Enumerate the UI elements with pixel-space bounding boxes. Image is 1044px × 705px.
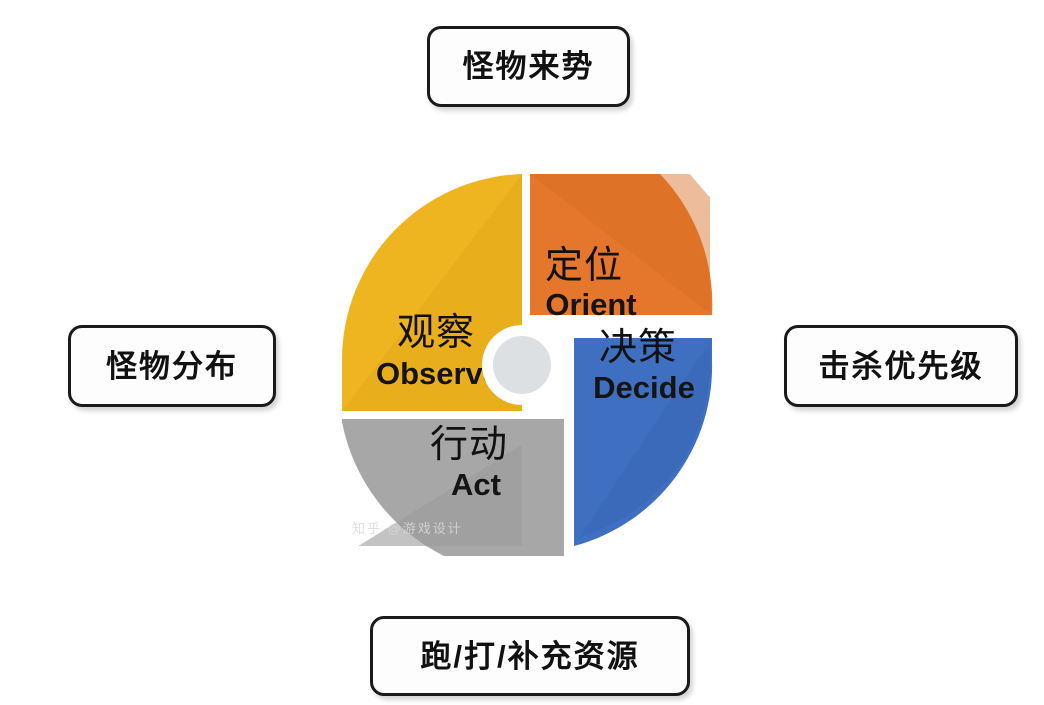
sector-observe-label-cn: 观察 (397, 312, 475, 354)
callout-right[interactable]: 击杀优先级 (784, 325, 1018, 407)
sector-orient[interactable]: 定位 Orient (530, 100, 712, 322)
sector-decide-label-en: Decide (593, 370, 695, 405)
sector-decide[interactable]: 决策 Decide (574, 327, 712, 546)
ooda-wheel-svg: 观察 Observe 定位 Orient (326, 160, 726, 560)
sector-act-label-en: Act (451, 467, 501, 502)
callout-bottom-label: 跑/打/补充资源 (420, 641, 639, 672)
center-hub (493, 336, 551, 394)
callout-bottom[interactable]: 跑/打/补充资源 (370, 616, 690, 696)
sector-decide-label-cn: 决策 (599, 327, 677, 369)
sector-orient-label-cn: 定位 (545, 245, 623, 287)
ooda-wheel: 观察 Observe 定位 Orient (326, 160, 726, 560)
callout-top-label: 怪物来势 (463, 51, 595, 82)
callout-right-label: 击杀优先级 (819, 351, 984, 382)
callout-top[interactable]: 怪物来势 (427, 26, 630, 107)
ooda-diagram: 怪物来势 怪物分布 击杀优先级 跑/打/补充资源 (0, 0, 1044, 705)
sector-act-label-cn: 行动 (430, 424, 508, 466)
sector-observe-label-en: Observe (376, 356, 500, 391)
sector-orient-label-en: Orient (545, 287, 636, 322)
callout-left-label: 怪物分布 (106, 351, 238, 382)
watermark: 知乎 @游戏设计 (352, 518, 463, 537)
callout-left[interactable]: 怪物分布 (68, 325, 276, 407)
